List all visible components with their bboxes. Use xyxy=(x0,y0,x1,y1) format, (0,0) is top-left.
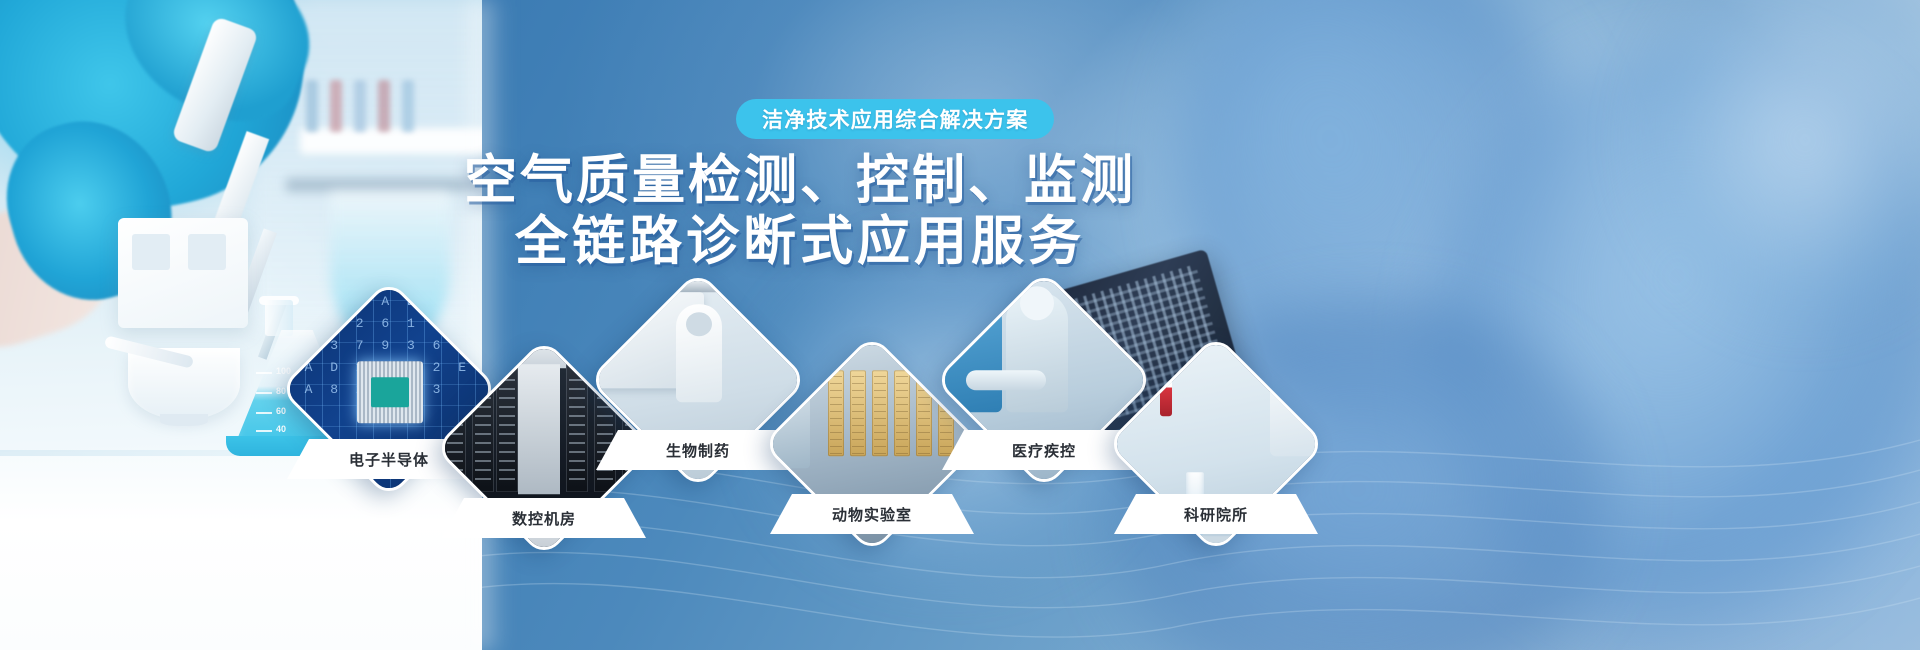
industry-card-animal-lab[interactable]: 动物实验室 xyxy=(794,366,950,522)
card-label: 科研院所 xyxy=(1114,494,1318,534)
card-label: 动物实验室 xyxy=(770,494,974,534)
industry-card-datacenter[interactable]: 数控机房 xyxy=(466,370,622,526)
card-label: 数控机房 xyxy=(442,498,646,538)
industry-card-research[interactable]: 科研院所 xyxy=(1138,366,1294,522)
industry-card-medical[interactable]: 医疗疾控 xyxy=(966,302,1122,458)
industry-card-list: 7 A 1 C A E 2 F D 0 5 9 2 6 1 7 8 E B F … xyxy=(0,0,1920,650)
hero-banner: 100 80 60 40 洁净技术应用综合解决方案 空气质量检测、控制、监测 全… xyxy=(0,0,1920,650)
card-label: 生物制药 xyxy=(596,430,800,470)
industry-card-biopharma[interactable]: 生物制药 xyxy=(620,302,776,458)
